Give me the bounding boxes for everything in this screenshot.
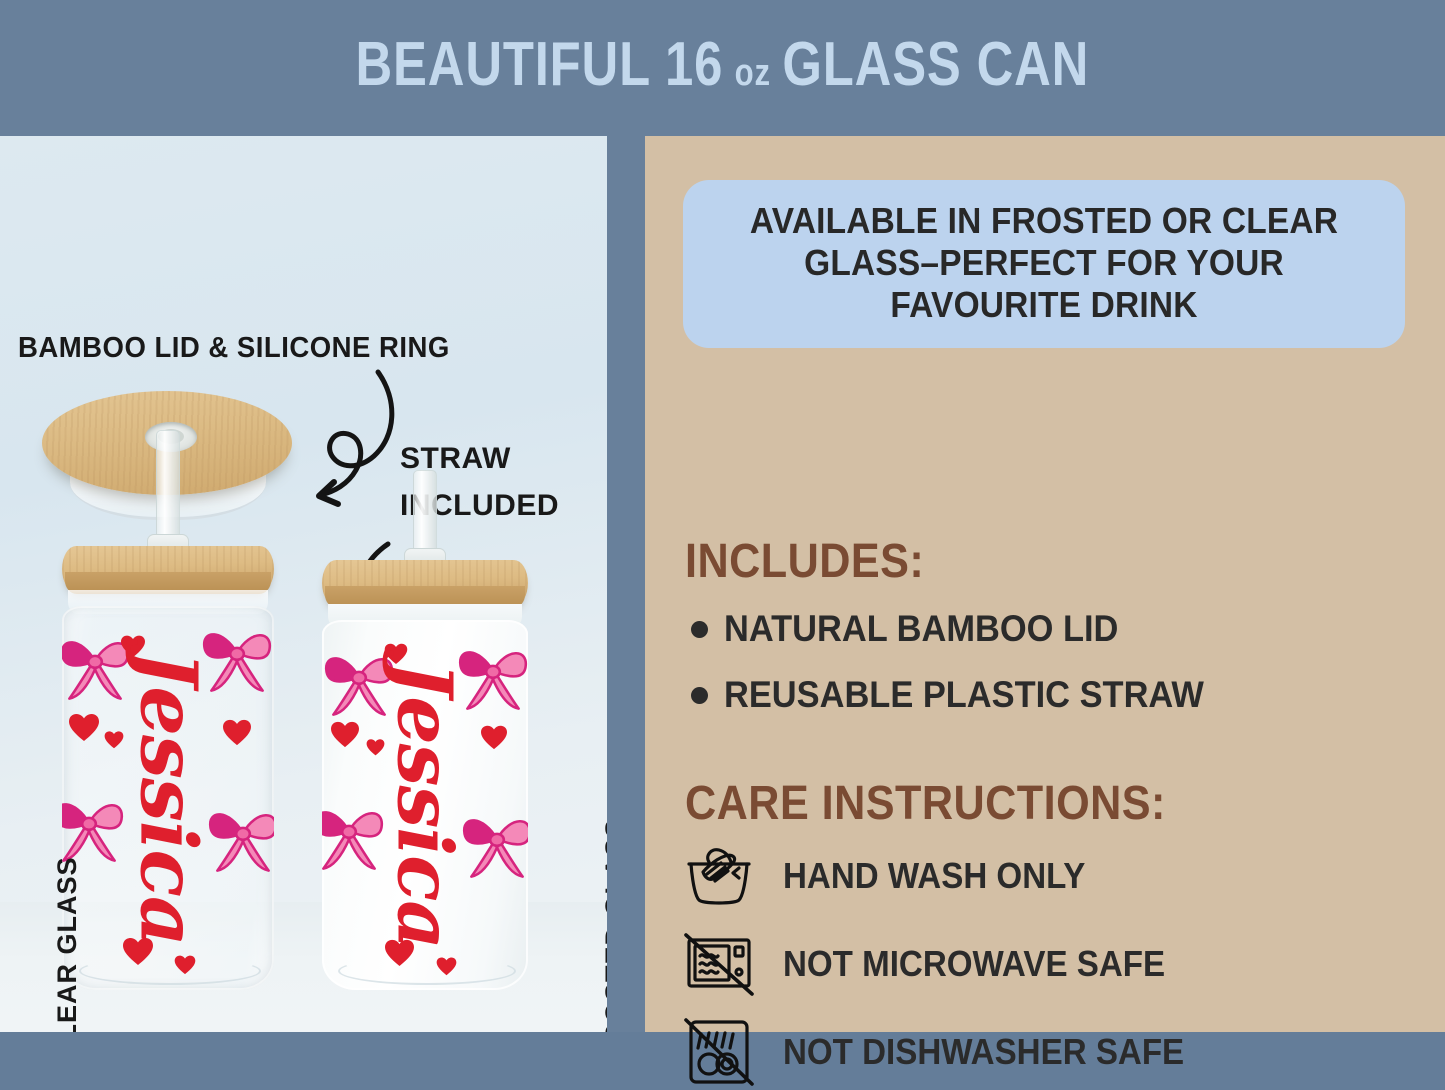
heart-icon — [480, 724, 508, 750]
page-title: BEAUTIFUL 16 oz GLASS CAN — [356, 29, 1090, 100]
no-microwave-icon — [681, 926, 757, 1002]
title-tail: GLASS CAN — [783, 29, 1090, 100]
care-item-label: HAND WASH ONLY — [783, 855, 1085, 897]
care-item-no-microwave: NOT MICROWAVE SAFE — [681, 926, 1198, 1002]
includes-item-label: NATURAL BAMBOO LID — [724, 608, 1118, 650]
frosted-glass-can: Jessica — [322, 520, 528, 990]
title-main: BEAUTIFUL 16 — [356, 29, 724, 100]
curly-arrow-to-lid-icon — [300, 364, 420, 514]
heart-icon — [68, 712, 100, 742]
includes-item: REUSABLE PLASTIC STRAW — [691, 674, 1240, 716]
includes-item: NATURAL BAMBOO LID — [691, 608, 1148, 650]
heart-icon — [330, 720, 360, 748]
includes-item-label: REUSABLE PLASTIC STRAW — [724, 674, 1204, 716]
care-item-hand-wash: HAND WASH ONLY — [681, 838, 1112, 914]
frosted-glass-label: FROSTED GLASS — [600, 818, 607, 1032]
care-item-no-dishwasher: NOT DISHWASHER SAFE — [681, 1014, 1219, 1090]
clear-can-name-decal: Jessica — [123, 650, 214, 945]
hand-wash-icon — [681, 838, 757, 914]
availability-callout: AVAILABLE IN FROSTED OR CLEAR GLASS–PERF… — [683, 180, 1405, 348]
product-photo-panel: BAMBOO LID & SILICONE RING STRAW INCLUDE… — [0, 136, 607, 1032]
bamboo-lid-label: BAMBOO LID & SILICONE RING — [18, 332, 450, 365]
frosted-can-body: Jessica — [322, 620, 528, 990]
includes-heading: INCLUDES: — [685, 534, 924, 589]
frosted-can-decal-art: Jessica — [322, 620, 528, 990]
title-unit: oz — [735, 52, 771, 95]
bullet-dot-icon — [691, 687, 708, 704]
clear-can-bottom — [79, 957, 261, 985]
clear-can-body: Jessica — [62, 606, 274, 990]
clear-can-straw — [156, 430, 180, 550]
care-instructions-heading: CARE INSTRUCTIONS: — [685, 776, 1166, 831]
heart-icon — [104, 730, 124, 749]
frosted-can-name-decal: Jessica — [381, 661, 470, 948]
bullet-dot-icon — [691, 621, 708, 638]
clear-glass-can: Jessica — [62, 510, 274, 990]
clear-glass-label: CLEAR GLASS — [52, 856, 83, 1032]
bow-icon — [62, 782, 132, 864]
frosted-can-bottom — [338, 957, 515, 985]
no-dishwasher-icon — [681, 1014, 757, 1090]
header-banner: BEAUTIFUL 16 oz GLASS CAN — [0, 0, 1445, 128]
clear-can-decal-art: Jessica — [62, 606, 274, 990]
availability-callout-text: AVAILABLE IN FROSTED OR CLEAR GLASS–PERF… — [729, 200, 1360, 326]
care-item-label: NOT MICROWAVE SAFE — [783, 943, 1165, 985]
heart-icon — [222, 718, 252, 746]
infographic-page: BEAUTIFUL 16 oz GLASS CAN BAMBOO LID & S… — [0, 0, 1445, 1032]
product-info-panel: AVAILABLE IN FROSTED OR CLEAR GLASS–PERF… — [645, 136, 1445, 1032]
care-item-label: NOT DISHWASHER SAFE — [783, 1031, 1184, 1073]
